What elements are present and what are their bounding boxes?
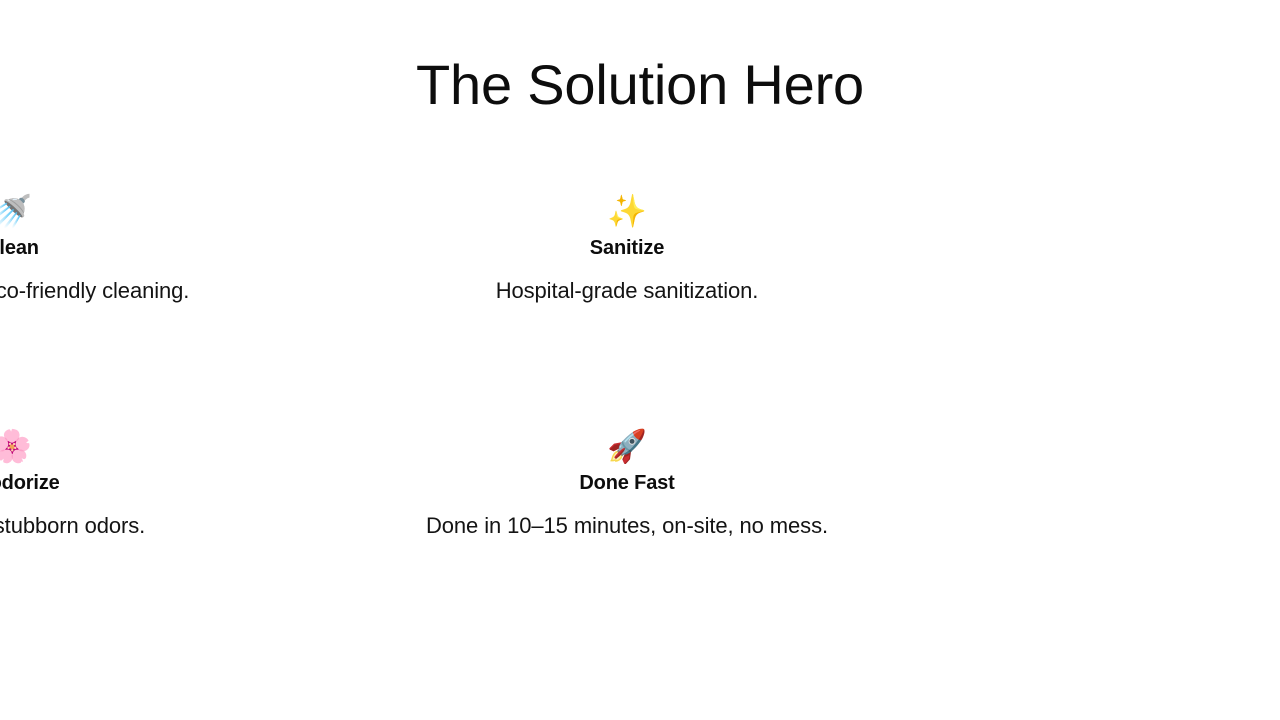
sparkles-icon: ✨ [607, 192, 647, 230]
page-title: The Solution Hero [0, 52, 1280, 118]
feature-card-deodorize: 🌸 Deodorize Neutralizes stubborn odors. [0, 421, 332, 656]
feature-body-sanitize: Hospital-grade sanitization. [392, 274, 862, 308]
feature-heading-sanitize: Sanitize [590, 235, 664, 261]
slide: The Solution Hero 🚿 Clean High-pressure,… [0, 0, 1280, 720]
feature-body-clean: High-pressure, eco-friendly cleaning. [0, 274, 208, 308]
feature-card-done-fast: 🚀 Done Fast Done in 10–15 minutes, on-si… [307, 421, 947, 656]
feature-body-deodorize: Neutralizes stubborn odors. [0, 509, 208, 543]
feature-heading-clean: Clean [0, 235, 39, 261]
rocket-icon: 🚀 [607, 427, 647, 465]
feature-card-clean: 🚿 Clean High-pressure, eco-friendly clea… [0, 186, 332, 421]
feature-grid: 🚿 Clean High-pressure, eco-friendly clea… [0, 186, 1280, 656]
feature-card-sanitize: ✨ Sanitize Hospital-grade sanitization. [307, 186, 947, 421]
cherry-blossom-icon: 🌸 [0, 427, 32, 465]
feature-heading-deodorize: Deodorize [0, 470, 60, 496]
shower-icon: 🚿 [0, 192, 32, 230]
feature-heading-done-fast: Done Fast [579, 470, 674, 496]
feature-body-done-fast: Done in 10–15 minutes, on-site, no mess. [392, 509, 862, 543]
